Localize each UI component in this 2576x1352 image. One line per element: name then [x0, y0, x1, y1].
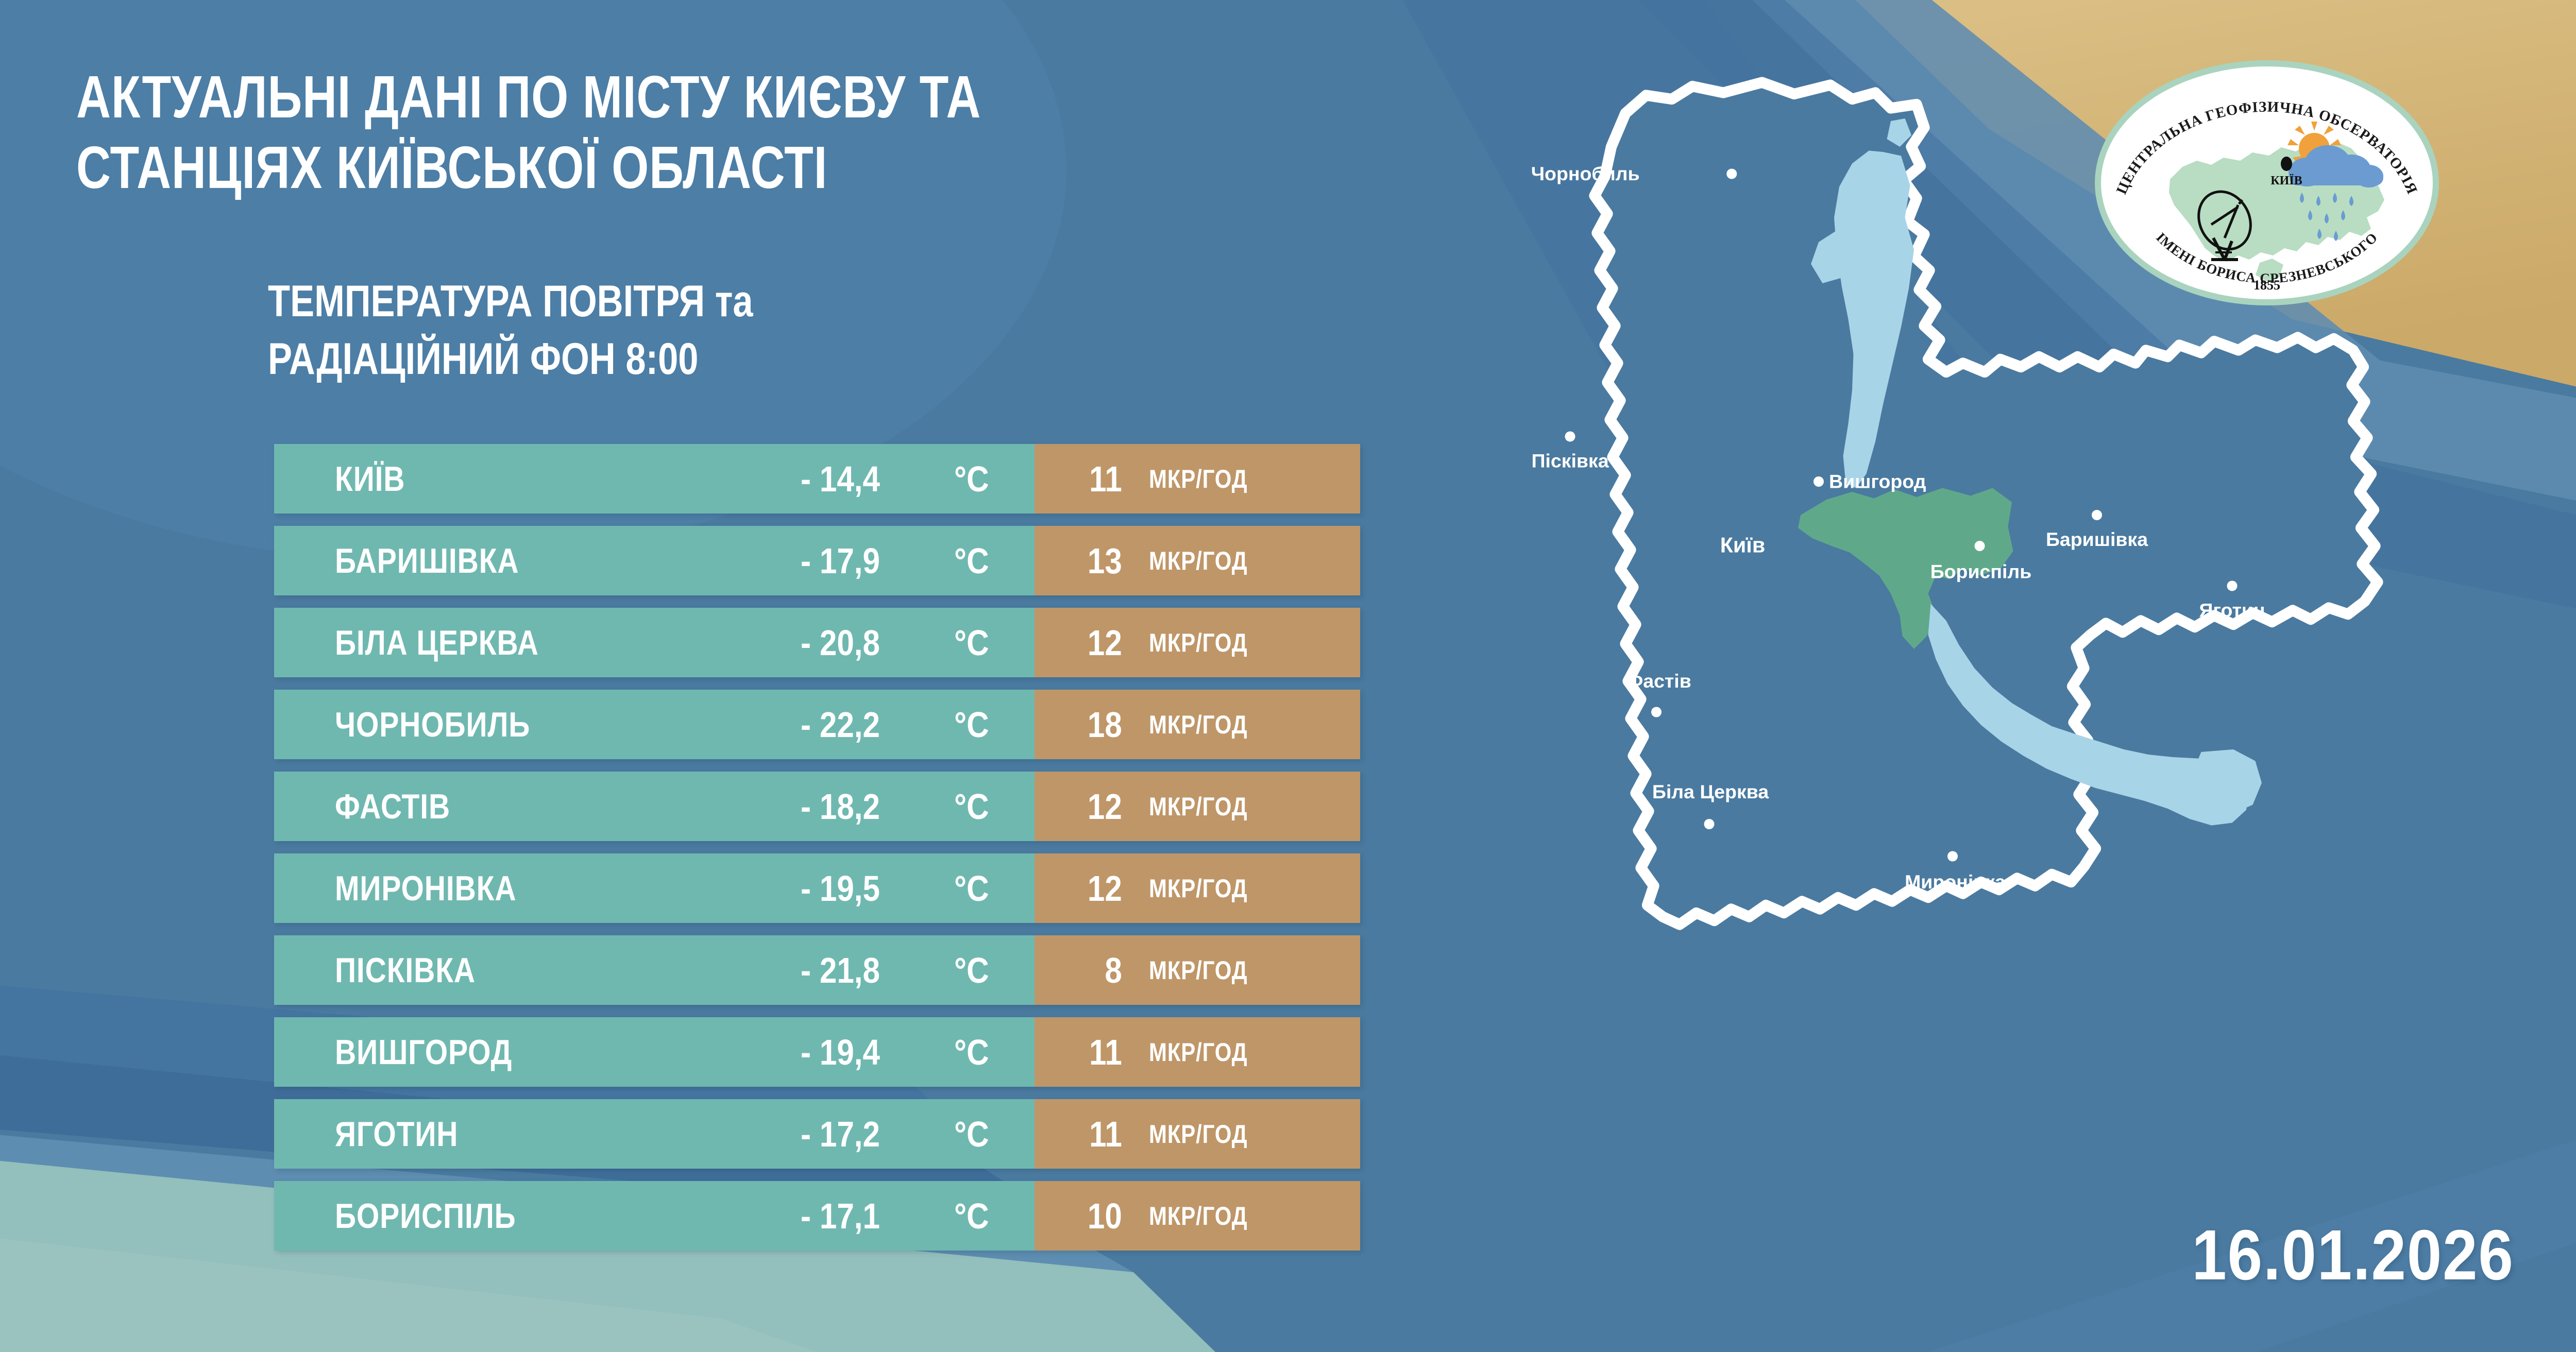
temperature-value: - 22,2 — [801, 704, 880, 745]
station-name: ЯГОТИН — [335, 1114, 458, 1154]
station-temp-cell: ЯГОТИН- 17,2°C — [274, 1099, 1035, 1169]
station-temp-cell: ФАСТІВ- 18,2°C — [274, 772, 1035, 841]
temperature-unit: °C — [954, 540, 989, 581]
temperature-unit: °C — [954, 786, 989, 827]
infographic-canvas: АКТУАЛЬНІ ДАНІ ПО МІСТУ КИЄВУ ТА СТАНЦІЯ… — [0, 0, 2576, 1352]
station-name: ВИШГОРОД — [335, 1032, 512, 1072]
radiation-cell: 18МКР/ГОД — [1035, 690, 1360, 759]
map-city-dot — [2092, 510, 2102, 520]
map-city-label: Пісківка — [1531, 450, 1609, 472]
table-row: ПІСКІВКА- 21,8°C8МКР/ГОД — [274, 935, 1360, 1005]
map-city-dot — [1651, 707, 1662, 717]
radiation-unit: МКР/ГОД — [1149, 1119, 1247, 1149]
radiation-unit: МКР/ГОД — [1149, 1201, 1247, 1231]
logo-year: 1855 — [2253, 278, 2280, 293]
date-stamp: 16.01.2026 — [2192, 1214, 2514, 1296]
temperature-unit: °C — [954, 868, 989, 909]
table-row: БАРИШІВКА- 17,9°C13МКР/ГОД — [274, 526, 1360, 595]
station-temp-cell: ЧОРНОБИЛЬ- 22,2°C — [274, 690, 1035, 759]
radiation-cell: 11МКР/ГОД — [1035, 1017, 1360, 1087]
radiation-value: 12 — [1041, 622, 1125, 663]
table-row: МИРОНІВКА- 19,5°C12МКР/ГОД — [274, 853, 1360, 923]
radiation-unit: МКР/ГОД — [1149, 464, 1247, 494]
radiation-value: 11 — [1041, 1114, 1125, 1155]
station-temp-cell: БОРИСПІЛЬ- 17,1°C — [274, 1181, 1035, 1251]
temperature-value: - 19,5 — [801, 868, 880, 909]
radiation-value: 18 — [1041, 704, 1125, 745]
radiation-value: 12 — [1041, 786, 1125, 827]
station-name: КИЇВ — [335, 459, 405, 499]
radiation-value: 10 — [1041, 1195, 1125, 1237]
temperature-unit: °C — [954, 1114, 989, 1155]
station-name: БІЛА ЦЕРКВА — [335, 623, 539, 663]
map-city-dot — [1726, 169, 1737, 179]
map-city-label: Вишгород — [1829, 471, 1926, 492]
map-city-label: Миронівка — [1905, 871, 2006, 893]
temperature-value: - 17,9 — [801, 540, 880, 581]
temperature-unit: °C — [954, 950, 989, 991]
map-city-dot — [1975, 541, 1985, 551]
radiation-cell: 11МКР/ГОД — [1035, 1099, 1360, 1169]
map-city-dot — [1565, 432, 1575, 442]
temperature-value: - 21,8 — [801, 950, 880, 991]
map-city-dot — [1704, 819, 1715, 829]
temperature-value: - 17,2 — [801, 1114, 880, 1155]
page-title: АКТУАЛЬНІ ДАНІ ПО МІСТУ КИЄВУ ТА СТАНЦІЯ… — [76, 62, 1107, 203]
left-content-column: АКТУАЛЬНІ ДАНІ ПО МІСТУ КИЄВУ ТА СТАНЦІЯ… — [0, 0, 1417, 1352]
map-city-label: Київ — [1720, 534, 1766, 557]
radiation-cell: 12МКР/ГОД — [1035, 608, 1360, 677]
table-row: БІЛА ЦЕРКВА- 20,8°C12МКР/ГОД — [274, 608, 1360, 677]
station-name: ФАСТІВ — [335, 786, 450, 827]
radiation-unit: МКР/ГОД — [1149, 874, 1247, 903]
temperature-value: - 18,2 — [801, 786, 880, 827]
temperature-value: - 19,4 — [801, 1032, 880, 1073]
radiation-value: 11 — [1041, 1032, 1125, 1073]
radiation-cell: 13МКР/ГОД — [1035, 526, 1360, 595]
radiation-cell: 11МКР/ГОД — [1035, 444, 1360, 514]
map-city-label: Чорнобиль — [1531, 163, 1640, 184]
map-city-label: Біла Церква — [1652, 781, 1769, 802]
station-temp-cell: КИЇВ- 14,4°C — [274, 444, 1035, 514]
map-city-label: Бориспіль — [1930, 561, 2032, 583]
radiation-cell: 12МКР/ГОД — [1035, 772, 1360, 841]
table-row: КИЇВ- 14,4°C11МКР/ГОД — [274, 444, 1360, 514]
table-row: ЯГОТИН- 17,2°C11МКР/ГОД — [274, 1099, 1360, 1169]
temperature-value: - 20,8 — [801, 622, 880, 663]
temperature-unit: °C — [954, 458, 989, 500]
logo-kyiv-label: КИЇВ — [2270, 174, 2302, 187]
map-city-label: Яготин — [2199, 600, 2265, 621]
station-name: БАРИШІВКА — [335, 541, 519, 581]
radiation-cell: 10МКР/ГОД — [1035, 1181, 1360, 1251]
radiation-cell: 12МКР/ГОД — [1035, 853, 1360, 923]
station-name: ЧОРНОБИЛЬ — [335, 705, 530, 745]
map-city-label: Фастів — [1626, 670, 1691, 692]
table-row: БОРИСПІЛЬ- 17,1°C10МКР/ГОД — [274, 1181, 1360, 1251]
temperature-unit: °C — [954, 622, 989, 663]
map-city-dot — [1947, 851, 1958, 862]
station-temp-cell: БІЛА ЦЕРКВА- 20,8°C — [274, 608, 1035, 677]
station-temp-cell: ВИШГОРОД- 19,4°C — [274, 1017, 1035, 1087]
stations-table: КИЇВ- 14,4°C11МКР/ГОДБАРИШІВКА- 17,9°C13… — [274, 444, 1361, 1263]
radiation-cell: 8МКР/ГОД — [1035, 935, 1360, 1005]
station-temp-cell: МИРОНІВКА- 19,5°C — [274, 853, 1035, 923]
temperature-value: - 17,1 — [801, 1195, 880, 1237]
observatory-logo: КИЇВ ЦЕНТРАЛЬНА ГЕОФІЗИЧНА ОБСЕРВАТОРІЯ … — [2092, 57, 2442, 309]
radiation-unit: МКР/ГОД — [1149, 955, 1247, 985]
radiation-unit: МКР/ГОД — [1149, 1037, 1247, 1067]
temperature-unit: °C — [954, 1195, 989, 1237]
radiation-value: 13 — [1041, 540, 1125, 581]
radiation-value: 8 — [1041, 950, 1125, 991]
station-name: МИРОНІВКА — [335, 868, 516, 909]
station-temp-cell: ПІСКІВКА- 21,8°C — [274, 935, 1035, 1005]
station-temp-cell: БАРИШІВКА- 17,9°C — [274, 526, 1035, 595]
station-name: БОРИСПІЛЬ — [335, 1196, 516, 1236]
temperature-unit: °C — [954, 1032, 989, 1073]
map-city-dot — [1814, 476, 1824, 487]
table-row: ВИШГОРОД- 19,4°C11МКР/ГОД — [274, 1017, 1360, 1087]
map-city-dot — [2227, 581, 2238, 591]
temperature-value: - 14,4 — [801, 458, 880, 500]
temperature-unit: °C — [954, 704, 989, 745]
station-name: ПІСКІВКА — [335, 950, 476, 990]
radiation-unit: МКР/ГОД — [1149, 546, 1247, 576]
table-row: ЧОРНОБИЛЬ- 22,2°C18МКР/ГОД — [274, 690, 1360, 759]
radiation-unit: МКР/ГОД — [1149, 628, 1247, 658]
radiation-value: 12 — [1041, 868, 1125, 909]
radiation-unit: МКР/ГОД — [1149, 710, 1247, 740]
page-subtitle: ТЕМПЕРАТУРА ПОВІТРЯ та РАДІАЦІЙНИЙ ФОН 8… — [268, 273, 1197, 388]
map-city-label: Баришівка — [2046, 528, 2148, 550]
table-row: ФАСТІВ- 18,2°C12МКР/ГОД — [274, 772, 1360, 841]
radiation-unit: МКР/ГОД — [1149, 792, 1247, 822]
radiation-value: 11 — [1041, 458, 1125, 500]
